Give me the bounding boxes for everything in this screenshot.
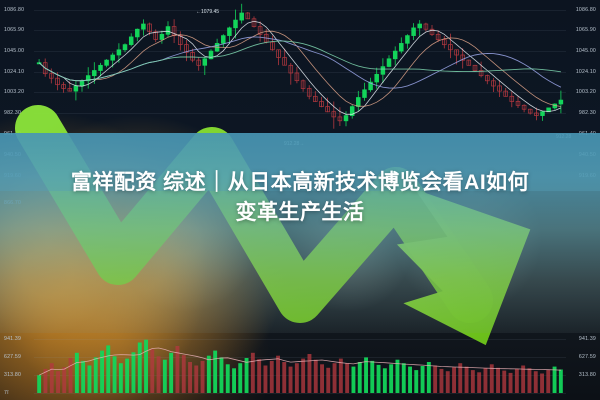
article-banner-image: 1086.80 1065.90 1045.00 1024.10 1003.20 …	[0, 0, 600, 400]
headline-line-1: 富祥配资 综述｜从日本高新技术博览会看AI如何	[71, 171, 529, 194]
article-headline: 富祥配资 综述｜从日本高新技术博览会看AI如何 变革生产生活	[0, 168, 600, 229]
headline-line-2: 变革生产生活	[0, 198, 600, 228]
teal-overlay-band	[0, 133, 600, 333]
